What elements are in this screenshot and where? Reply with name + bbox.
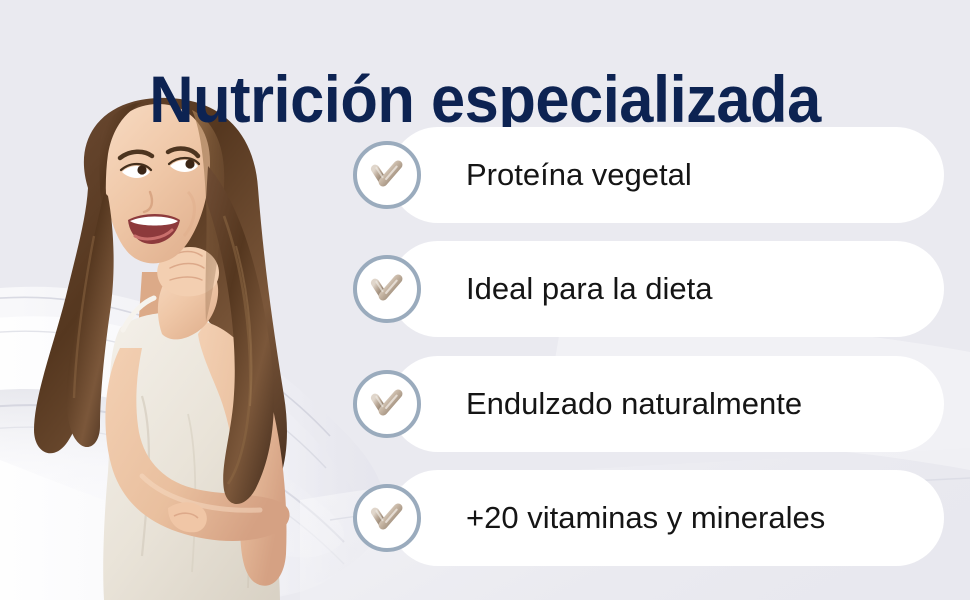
check-icon: [353, 255, 421, 323]
feature-item: +20 vitaminas y minerales: [353, 470, 944, 566]
feature-item: Proteína vegetal: [353, 127, 944, 223]
feature-label: +20 vitaminas y minerales: [466, 470, 825, 566]
feature-list: Proteína vegetal Ideal para la dieta: [0, 0, 970, 600]
check-icon: [353, 141, 421, 209]
feature-item: Endulzado naturalmente: [353, 356, 944, 452]
feature-item: Ideal para la dieta: [353, 241, 944, 337]
check-icon: [353, 370, 421, 438]
promo-banner: Nutrición especializada: [0, 0, 970, 600]
check-icon: [353, 484, 421, 552]
feature-label: Proteína vegetal: [466, 127, 692, 223]
feature-label: Endulzado naturalmente: [466, 356, 802, 452]
feature-label: Ideal para la dieta: [466, 241, 712, 337]
